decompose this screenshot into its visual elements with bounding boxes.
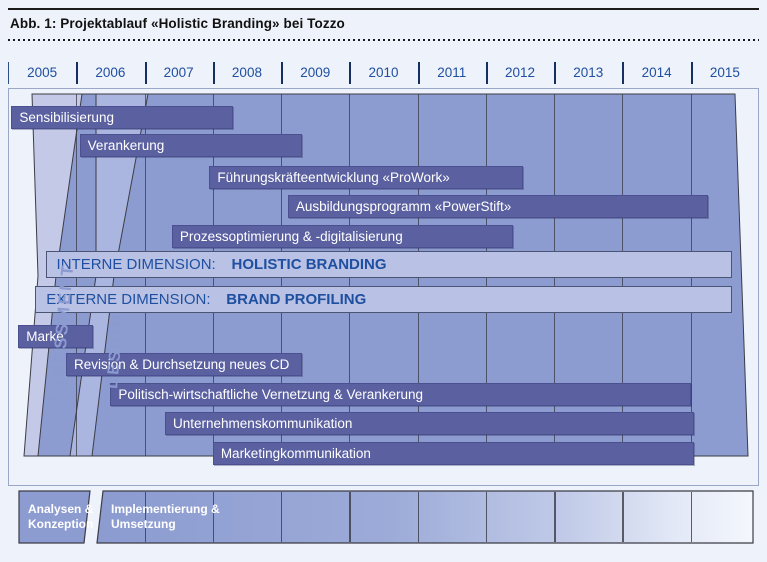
gantt-chart: SensibilisierungVerankerungFührungskräft… (8, 88, 759, 486)
gantt-bar-label: Verankerung (88, 135, 165, 156)
gantt-bar[interactable]: Ausbildungsprogramm «PowerStift» (288, 195, 708, 218)
year-label-2011: 2011 (418, 60, 486, 86)
gantt-bar[interactable]: Sensibilisierung (11, 106, 233, 129)
footer-gridline (418, 492, 419, 542)
gantt-bar[interactable]: Führungskräfteentwicklung «ProWork» (209, 166, 523, 189)
year-label-2012: 2012 (486, 60, 554, 86)
dimension-band[interactable]: EXTERNE DIMENSION:BRAND PROFILING (35, 286, 731, 313)
gantt-bar[interactable]: Revision & Durchsetzung neues CD (66, 353, 302, 376)
footer-left-line1: Analysen & (28, 502, 93, 516)
gantt-bar[interactable]: Politisch-wirtschaftliche Vernetzung & V… (110, 383, 690, 406)
footer-right-line2: Umsetzung (111, 517, 176, 531)
footer-gridline (691, 492, 692, 542)
gantt-bar[interactable]: Marketingkommunikation (213, 442, 694, 465)
footer-gridline (486, 492, 487, 542)
footer-gridline (622, 492, 623, 542)
gantt-bar-label: Führungskräfteentwicklung «ProWork» (217, 167, 449, 188)
footer-gridline (554, 492, 555, 542)
gantt-bar-label: Unternehmenskommunikation (173, 413, 352, 434)
footer-right-line1: Implementierung & (111, 502, 220, 516)
dimension-band-name: BRAND PROFILING (226, 287, 366, 312)
dimension-band-prefix: INTERNE DIMENSION: (57, 252, 216, 277)
gantt-bar[interactable]: Prozessoptimierung & -digitalisierung (172, 225, 513, 248)
footer-gridline (281, 492, 282, 542)
footer-left-label: Analysen & Konzeption (28, 502, 93, 532)
gantt-bar[interactable]: Unternehmenskommunikation (165, 412, 694, 435)
year-label-2009: 2009 (281, 60, 349, 86)
caption-bottom-rule (8, 39, 759, 41)
footer-right-label: Implementierung & Umsetzung (111, 502, 220, 532)
year-axis: 2005200620072008200920102011201220132014… (8, 60, 759, 86)
dimension-band[interactable]: INTERNE DIMENSION:HOLISTIC BRANDING (46, 251, 732, 278)
footer-left-line2: Konzeption (28, 517, 93, 531)
dimension-band-name: HOLISTIC BRANDING (232, 252, 387, 277)
year-label-2014: 2014 (622, 60, 690, 86)
gantt-bar-label: Prozessoptimierung & -digitalisierung (180, 226, 403, 247)
footer-gridline (349, 492, 350, 542)
phase-footer: Analysen & Konzeption Implementierung & … (8, 489, 759, 545)
year-label-2006: 2006 (76, 60, 144, 86)
year-label-2010: 2010 (349, 60, 417, 86)
gantt-bar-label: Ausbildungsprogramm «PowerStift» (296, 196, 511, 217)
year-label-2005: 2005 (8, 60, 76, 86)
gantt-bar-label: Sensibilisierung (19, 107, 114, 128)
year-label-2008: 2008 (213, 60, 281, 86)
gantt-bar[interactable]: Verankerung (80, 134, 302, 157)
gantt-bar-label: Marketingkommunikation (221, 443, 371, 464)
year-label-2007: 2007 (145, 60, 213, 86)
year-label-2015: 2015 (691, 60, 759, 86)
gantt-bar-label: Politisch-wirtschaftliche Vernetzung & V… (118, 384, 423, 405)
year-label-2013: 2013 (554, 60, 622, 86)
figure-root: Abb. 1: Projektablauf «Holistic Branding… (0, 0, 767, 562)
figure-caption: Abb. 1: Projektablauf «Holistic Branding… (10, 12, 755, 36)
caption-top-rule (8, 8, 759, 10)
